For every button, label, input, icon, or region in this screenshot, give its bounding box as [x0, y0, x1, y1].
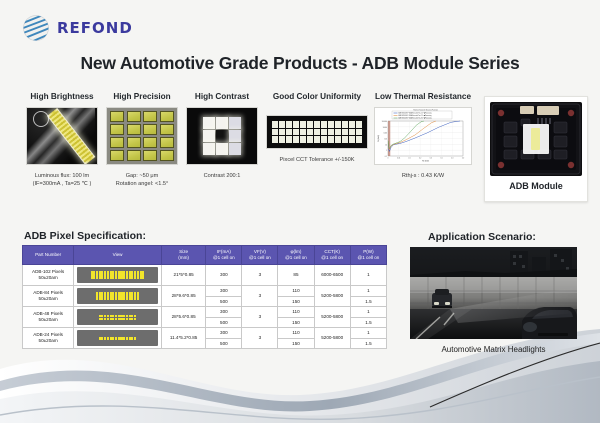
cell-if: 300: [206, 265, 242, 286]
night-road-headlight-photo: [410, 247, 577, 339]
col-header-7: P(W)@1 cell on: [350, 246, 386, 265]
uniform-pixel-bar-photo: [266, 115, 368, 149]
cell-vf: 3: [242, 265, 278, 286]
table-row[interactable]: ADB-102 Pixels50±20am21*5*0.853003856000…: [23, 265, 387, 286]
cell-size: 28*5.6*0.85: [161, 307, 205, 328]
feature-title: Good Color Uniformity: [262, 92, 372, 101]
feature-high-contrast: High Contrast Contrast 200:1: [182, 92, 262, 189]
cell-part-number: ADB-102 Pixels50±20am: [23, 265, 74, 286]
cell-cct: 6000-6500: [314, 265, 350, 286]
table-row[interactable]: ADB-48 Pixels50±20am28*5.6*0.85300311052…: [23, 307, 387, 318]
col-header-6: CCT(K)@1 cell on: [314, 246, 350, 265]
cell-power: 1.5: [350, 296, 386, 307]
cell-vf: 3: [242, 286, 278, 307]
feature-thermal-resistance: Low Thermal Resistance 10000010000100010…: [372, 92, 474, 189]
thermal-transient-chart: 1000001000010001001010.100.010.10.20.51.…: [374, 107, 472, 165]
feature-caption-line2: Rotation angel: <1.5°: [102, 180, 182, 188]
feature-caption: Contrast 200:1: [182, 172, 262, 180]
feature-row: High Brightness Luminous flux: 100 lm (I…: [22, 92, 474, 189]
feature-caption: Rthj-s : 0.43 K/W: [372, 172, 474, 180]
cell-cct: 5200-5800: [314, 286, 350, 307]
cell-flux: 110: [278, 328, 314, 339]
feature-caption: Pixcel CCT Tolerance +/-150K: [262, 156, 372, 164]
cell-flux: 110: [278, 307, 314, 318]
contrast-pixel-array-photo: [186, 107, 258, 165]
led-pixel-grid-photo: [106, 107, 178, 165]
cell-size: 21*5*0.85: [161, 265, 205, 286]
col-header-0: Part Number: [23, 246, 74, 265]
cell-view-thumbnail: [74, 307, 162, 328]
adb-module-label: ADB Module: [490, 181, 582, 191]
adb-module-card: ADB Module: [484, 96, 588, 202]
cell-part-number: ADB-84 Pixels50±20am: [23, 286, 74, 307]
feature-caption-line1: Rthj-s : 0.43 K/W: [372, 172, 474, 180]
cell-flux: 150: [278, 338, 314, 349]
table-row[interactable]: ADB-24 Pixels50±20am11.4*5.2*0.853003110…: [23, 328, 387, 339]
slide-canvas: REFOND New Automotive Grade Products - A…: [0, 0, 600, 423]
striped-globe-icon: [22, 14, 50, 42]
cell-power: 1: [350, 328, 386, 339]
cell-flux: 85: [278, 265, 314, 286]
feature-high-brightness: High Brightness Luminous flux: 100 lm (I…: [22, 92, 102, 189]
adb-pcb-module-photo: [490, 102, 582, 176]
feature-caption-line1: Luminous flux: 100 lm: [22, 172, 102, 180]
brand-logo: REFOND: [22, 14, 133, 42]
feature-caption-line1: Contrast 200:1: [182, 172, 262, 180]
cell-size: 28*9.6*0.85: [161, 286, 205, 307]
led-light-beam-photo: [26, 107, 98, 165]
cell-view-thumbnail: [74, 265, 162, 286]
col-header-4: VF(V)@1 cell on: [242, 246, 278, 265]
feature-color-uniformity: Good Color Uniformity Pixcel CCT Toleran…: [262, 92, 372, 189]
feature-caption: Gap: ~50 μm Rotation angel: <1.5°: [102, 172, 182, 189]
cell-power: 1: [350, 286, 386, 297]
cell-power: 1.5: [350, 317, 386, 328]
feature-caption-line1: Pixcel CCT Tolerance +/-150K: [262, 156, 372, 164]
cell-if: 500: [206, 338, 242, 349]
cell-cct: 5200-5800: [314, 328, 350, 349]
col-header-1: View: [74, 246, 162, 265]
col-header-3: IF(mA)@1 cell on: [206, 246, 242, 265]
cell-part-number: ADB-48 Pixels50±20am: [23, 307, 74, 328]
cell-view-thumbnail: [74, 328, 162, 349]
cell-part-number: ADB-24 Pixels50±20am: [23, 328, 74, 349]
cell-flux: 150: [278, 317, 314, 328]
cell-vf: 3: [242, 307, 278, 328]
table-row[interactable]: ADB-84 Pixels50±20am28*9.6*0.85300311052…: [23, 286, 387, 297]
cell-view-thumbnail: [74, 286, 162, 307]
feature-caption: Luminous flux: 100 lm (IF=300mA , Ta=25 …: [22, 172, 102, 189]
feature-title: High Brightness: [22, 92, 102, 101]
feature-caption-line1: Gap: ~50 μm: [102, 172, 182, 180]
feature-title: High Contrast: [182, 92, 262, 101]
spec-heading: ADB Pixel Specification:: [24, 230, 146, 242]
cell-if: 500: [206, 296, 242, 307]
cell-flux: 110: [278, 286, 314, 297]
table-header-row: Part NumberViewSize(mm)IF(mA)@1 cell onV…: [23, 246, 387, 265]
cell-flux: 150: [278, 296, 314, 307]
col-header-5: φ(lm)@1 cell on: [278, 246, 314, 265]
cell-if: 300: [206, 286, 242, 297]
feature-title: Low Thermal Resistance: [372, 92, 474, 101]
cell-power: 1: [350, 265, 386, 286]
cell-cct: 5200-5800: [314, 307, 350, 328]
page-title: New Automotive Grade Products - ADB Modu…: [0, 53, 600, 74]
cell-if: 300: [206, 328, 242, 339]
feature-caption-line2: (IF=300mA , Ta=25 ℃ ): [22, 180, 102, 188]
distant-car: [432, 289, 452, 308]
feature-title: High Precision: [102, 92, 182, 101]
adb-pixel-spec-table: Part NumberViewSize(mm)IF(mA)@1 cell onV…: [22, 245, 387, 349]
cell-size: 11.4*5.2*0.85: [161, 328, 205, 349]
feature-high-precision: High Precision Gap: ~50 μm Rotation ange…: [102, 92, 182, 189]
application-caption: Automotive Matrix Headlights: [410, 345, 577, 354]
cell-if: 300: [206, 307, 242, 318]
cell-power: 1: [350, 307, 386, 318]
brand-name: REFOND: [57, 19, 133, 37]
application-heading: Application Scenario:: [428, 231, 536, 243]
cell-power: 1.5: [350, 338, 386, 349]
col-header-2: Size(mm): [161, 246, 205, 265]
cell-if: 500: [206, 317, 242, 328]
cell-vf: 3: [242, 328, 278, 349]
